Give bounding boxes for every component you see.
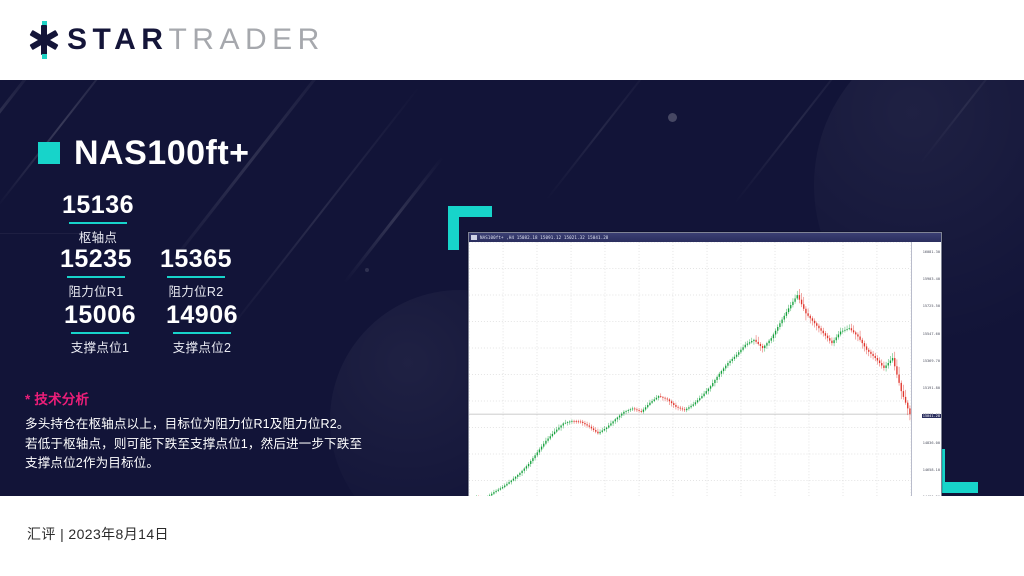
level-resistance-1: 15235 阻力位R1 bbox=[38, 246, 154, 300]
level-value: 15136 bbox=[40, 192, 156, 218]
level-label: 枢轴点 bbox=[40, 227, 156, 246]
price-tick: 15369.70 bbox=[923, 359, 940, 363]
price-tick: 16081.30 bbox=[923, 250, 940, 254]
price-tick: 15547.60 bbox=[923, 332, 940, 336]
technical-analysis-block: * 技术分析 多头持仓在枢轴点以上，目标位为阻力位R1及阻力位R2。 若低于枢轴… bbox=[25, 388, 405, 474]
page-header: STARTRADER bbox=[0, 0, 1024, 80]
brand-logo[interactable]: STARTRADER bbox=[27, 20, 325, 60]
chart-window-icon bbox=[471, 235, 477, 240]
chart-window-titlebar: NAS100ft+ ,H4 15082.18 15091.12 15021.32… bbox=[469, 233, 941, 242]
analysis-line-2: 若低于枢轴点，则可能下跌至支撑点位1，然后进一步下跌至 bbox=[25, 435, 405, 455]
level-value: 15235 bbox=[38, 246, 154, 272]
analysis-body: 多头持仓在枢轴点以上，目标位为阻力位R1及阻力位R2。 若低于枢轴点，则可能下跌… bbox=[25, 415, 405, 474]
candlestick-svg bbox=[469, 242, 911, 496]
price-tick: 14836.00 bbox=[923, 441, 940, 445]
level-divider bbox=[71, 332, 129, 334]
current-price-tag: 15041.28 bbox=[922, 414, 941, 418]
main-stage: NAS100ft+ 15136 枢轴点 15235 阻力位R1 15365 阻力… bbox=[0, 80, 1024, 496]
chart-window-title: NAS100ft+ ,H4 15082.18 15091.12 15021.32… bbox=[480, 235, 608, 240]
level-divider bbox=[69, 222, 127, 224]
footer-caption: 汇评 | 2023年8月14日 bbox=[27, 524, 169, 544]
light-streak bbox=[545, 80, 657, 202]
level-pivot: 15136 枢轴点 bbox=[40, 192, 156, 246]
level-divider bbox=[167, 276, 225, 278]
asterisk-star-icon bbox=[27, 20, 61, 60]
analysis-line-3: 支撑点位2作为目标位。 bbox=[25, 454, 405, 474]
analysis-heading: * 技术分析 bbox=[25, 388, 405, 408]
level-resistance-2: 15365 阻力位R2 bbox=[138, 246, 254, 300]
level-divider bbox=[67, 276, 125, 278]
brand-wordmark: STARTRADER bbox=[67, 25, 325, 55]
level-divider bbox=[173, 332, 231, 334]
level-label: 阻力位R1 bbox=[38, 281, 154, 300]
level-value: 14906 bbox=[140, 302, 264, 328]
chart-plot-area[interactable] bbox=[469, 242, 911, 496]
level-value: 15365 bbox=[138, 246, 254, 272]
price-tick: 14658.10 bbox=[923, 468, 940, 472]
logo-accent-square-bottom bbox=[42, 54, 47, 59]
price-tick: 15191.80 bbox=[923, 386, 940, 390]
instrument-title: NAS100ft+ bbox=[38, 136, 250, 170]
brand-name-secondary: TRADER bbox=[168, 23, 324, 56]
page-footer: 汇评 | 2023年8月14日 bbox=[0, 496, 1024, 576]
corner-bracket-icon bbox=[448, 206, 459, 250]
title-bullet-square bbox=[38, 142, 60, 164]
price-tick: 15725.50 bbox=[923, 304, 940, 308]
level-label: 支撑点位2 bbox=[140, 337, 264, 356]
decor-dot bbox=[668, 113, 677, 122]
price-tick: 15903.40 bbox=[923, 277, 940, 281]
chart-window[interactable]: NAS100ft+ ,H4 15082.18 15091.12 15021.32… bbox=[468, 232, 942, 496]
analysis-line-1: 多头持仓在枢轴点以上，目标位为阻力位R1及阻力位R2。 bbox=[25, 415, 405, 435]
chart-price-axis[interactable]: 16081.3015903.4015725.5015547.6015369.70… bbox=[911, 242, 941, 496]
level-support-2: 14906 支撑点位2 bbox=[140, 302, 264, 356]
info-column: NAS100ft+ 15136 枢轴点 15235 阻力位R1 15365 阻力… bbox=[0, 80, 440, 496]
page-title: NAS100ft+ bbox=[74, 136, 250, 170]
brand-name-primary: STAR bbox=[67, 23, 168, 56]
level-label: 阻力位R2 bbox=[138, 281, 254, 300]
